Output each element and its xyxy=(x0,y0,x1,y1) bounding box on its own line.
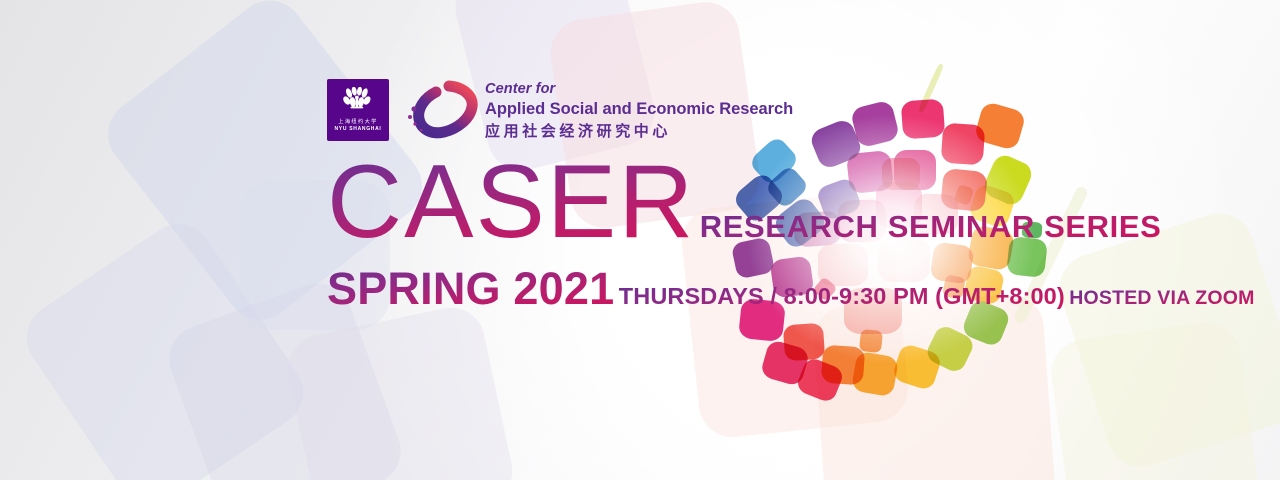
series-subtitle: RESEARCH SEMINAR SERIES xyxy=(700,211,1162,242)
logo-bar: 上海纽约大学 NYU SHANGHAI Center for Applied S… xyxy=(327,78,793,142)
platform-text: HOSTED VIA ZOOM xyxy=(1069,289,1254,309)
center-line-3-chinese: 应用社会经济研究中心 xyxy=(485,124,793,139)
caser-seminar-banner: 上海纽约大学 NYU SHANGHAI Center for Applied S… xyxy=(0,0,1280,480)
ghost-tile xyxy=(14,211,317,480)
schedule-text: THURSDAYS / 8:00-9:30 PM (GMT+8:00) xyxy=(619,285,1065,309)
nyu-shanghai-logo[interactable]: 上海纽约大学 NYU SHANGHAI xyxy=(327,79,389,141)
season-label: SPRING 2021 xyxy=(327,266,614,311)
center-name-block: Center for Applied Social and Economic R… xyxy=(485,82,793,139)
torch-icon xyxy=(339,87,377,117)
headline-block: CASER RESEARCH SEMINAR SERIES SPRING 202… xyxy=(327,160,1280,311)
ghost-tile xyxy=(1047,318,1263,480)
ghost-tile xyxy=(281,301,518,480)
caser-logo-mark[interactable] xyxy=(403,80,479,140)
center-line-2: Applied Social and Economic Research xyxy=(485,101,793,118)
art-tile xyxy=(859,329,883,353)
center-line-1: Center for xyxy=(485,82,793,97)
art-tile xyxy=(821,345,866,386)
nyu-logo-chinese: 上海纽约大学 xyxy=(338,119,378,126)
page-title: CASER xyxy=(327,160,695,245)
art-tile xyxy=(783,323,825,362)
nyu-logo-english: NYU SHANGHAI xyxy=(334,126,381,133)
